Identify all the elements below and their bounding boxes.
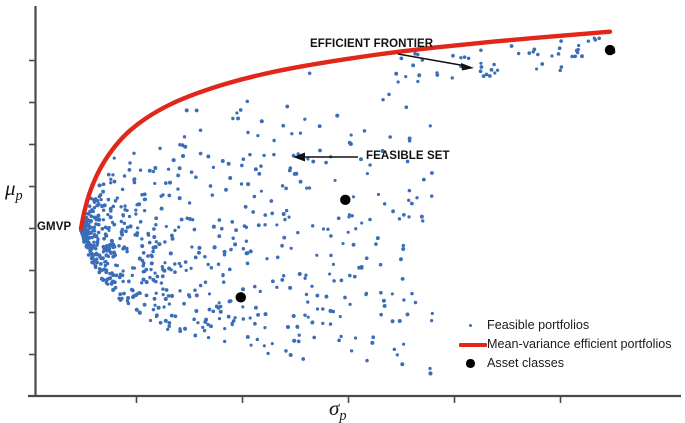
feasible-portfolio-point [140,244,144,248]
feasible-portfolio-point [357,266,361,270]
feasible-portfolio-point [219,310,223,314]
feasible-portfolio-point [131,289,135,293]
feasible-portfolio-point [116,264,119,267]
feasible-portfolio-point [121,247,125,251]
gmvp-label: GMVP [37,221,71,233]
feasible-portfolio-point [168,302,171,305]
feasible-portfolio-point [89,252,92,255]
feasible-portfolio-point [264,312,268,316]
feasible-portfolio-point [231,323,234,326]
feasible-portfolio-point [143,198,147,202]
feasible-portfolio-point [402,213,406,217]
feasible-portfolio-point [224,188,228,192]
feasible-portfolio-point [365,359,369,363]
feasible-portfolio-point [316,307,319,310]
feasible-portfolio-point [166,328,169,331]
feasible-portfolio-point [328,272,331,275]
feasible-portfolio-point [181,154,185,158]
feasible-portfolio-point [98,267,102,271]
feasible-portfolio-point [398,217,401,220]
feasible-portfolio-point [94,197,97,200]
feasible-portfolio-point [110,239,114,243]
feasible-portfolio-point [143,303,147,307]
feasible-portfolio-point [145,293,149,297]
feasible-portfolio-point [153,297,157,301]
feasible-portfolio-point [249,344,252,347]
feasible-portfolio-point [288,169,292,173]
feasible-portfolio-point [281,124,285,128]
feasible-portfolio-point [108,272,111,275]
feasible-portfolio-point [183,145,187,149]
feasible-portfolio-point [107,173,111,177]
feasible-portfolio-point [203,329,206,332]
feasible-portfolio-point [102,182,106,186]
feasible-portfolio-point [131,274,134,277]
feasible-portfolio-point [286,325,290,329]
feasible-portfolio-point [259,164,263,168]
feasible-portfolio-point [187,293,191,297]
feasible-portfolio-point [151,250,155,254]
feasible-portfolio-point [229,299,232,302]
feasible-portfolio-point [163,261,166,264]
feasible-portfolio-point [90,208,93,211]
feasible-portfolio-point [109,215,113,219]
feasible-portfolio-point [262,154,265,157]
feasible-portfolio-point [263,223,266,226]
feasible-portfolio-point [167,294,170,297]
feasible-portfolio-point [312,336,316,340]
y-axis-title-sub: p [16,188,23,204]
feasible-portfolio-point [283,218,286,221]
feasible-portfolio-point [496,69,499,72]
feasible-portfolio-point [535,67,538,70]
feasible-portfolio-point [343,296,347,300]
feasible-portfolio-point [92,246,95,249]
feasible-portfolio-point [321,307,325,311]
legend-red-line-icon [455,335,487,354]
feasible-portfolio-point [173,229,176,232]
feasible-portfolio-point [256,338,259,341]
feasible-portfolio-point [305,186,308,189]
feasible-portfolio-point [190,267,193,270]
feasible-portfolio-point [104,270,108,274]
feasible-portfolio-point [227,162,231,166]
feasible-portfolio-point [164,319,168,323]
feasible-portfolio-point [199,284,203,288]
asset-class-point [340,195,350,205]
feasible-portfolio-point [387,93,391,97]
feasible-portfolio-point [510,44,514,48]
feasible-portfolio-point [128,168,132,172]
feasible-portfolio-point [208,292,211,295]
feasible-portfolio-point [410,202,414,206]
feasible-portfolio-point [335,114,339,118]
feasible-portfolio-point [192,318,196,322]
feasible-portfolio-point [318,124,322,128]
feasible-portfolio-point [350,133,353,136]
feasible-portfolio-point [152,308,156,312]
feasible-portfolio-point [122,214,125,217]
feasible-portfolio-point [98,183,102,187]
feasible-portfolio-point [152,246,156,250]
feasible-portfolio-point [167,324,171,328]
feasible-portfolio-point [218,317,221,320]
feasible-portfolio-point [348,274,352,278]
feasible-portfolio-point [146,232,150,236]
feasible-portfolio-point [135,231,139,235]
feasible-portfolio-point [183,327,187,331]
feasible-portfolio-point [230,220,234,224]
feasible-portfolio-point [182,302,186,306]
feasible-portfolio-point [281,184,284,187]
feasible-portfolio-point [298,334,301,337]
feasible-portfolio-point [172,158,176,162]
feasible-portfolio-point [353,275,357,279]
feasible-portfolio-point [203,255,207,259]
feasible-portfolio-point [126,209,129,212]
feasible-portfolio-point [429,124,432,127]
feasible-portfolio-point [134,212,137,215]
feasible-portfolio-point [517,52,520,55]
feasible-portfolio-point [536,53,539,56]
feasible-portfolio-point [92,241,95,244]
feasible-portfolio-point [228,267,232,271]
feasible-portfolio-point [391,292,394,295]
feasible-portfolio-point [379,291,383,295]
feasible-portfolio-point [259,290,262,293]
feasible-portfolio-point [296,231,299,234]
feasible-portfolio-point [570,55,574,59]
feasible-portfolio-point [260,190,263,193]
feasible-portfolio-point [540,62,544,66]
feasible-portfolio-point [287,215,290,218]
legend-label-feasible-portfolios: Feasible portfolios [487,319,589,332]
feasible-portfolio-point [404,75,407,78]
feasible-portfolio-point [127,280,130,283]
feasible-portfolio-point [124,229,128,233]
feasible-portfolio-point [95,252,99,256]
feasible-portfolio-point [104,260,107,263]
legend-small-blue-dot-icon [455,316,487,335]
feasible-portfolio-point [560,65,564,69]
feasible-portfolio-point [154,223,157,226]
feasible-portfolio-point [190,245,193,248]
feasible-portfolio-point [135,203,138,206]
feasible-portfolio-point [123,174,127,178]
feasible-portfolio-point [246,262,250,266]
y-axis-title-glyph: μ [5,176,16,200]
feasible-portfolio-point [140,193,144,197]
feasible-portfolio-point [368,218,372,222]
feasible-portfolio-point [587,39,590,42]
feasible-portfolio-point [354,227,357,230]
feasible-portfolio-point [311,224,314,227]
feasible-portfolio-point [167,194,171,198]
feasible-portfolio-point [577,44,580,47]
feasible-portfolio-point [347,231,350,234]
feasible-portfolio-point [108,249,112,253]
feasible-portfolio-point [150,261,154,265]
legend-item-asset-classes: Asset classes [455,354,681,373]
feasible-portfolio-point [285,209,288,212]
feasible-portfolio-point [242,157,246,161]
feasible-portfolio-point [559,39,563,43]
feasible-portfolio-point [360,221,363,224]
feasible-portfolio-point [251,210,255,214]
feasible-portfolio-point [246,100,250,104]
legend-item-efficient-portfolios: Mean-variance efficient portfolios [455,335,681,354]
feasible-portfolio-point [195,293,199,297]
feasible-portfolio-point [149,268,152,271]
feasible-portfolio-point [398,319,402,323]
feasible-portfolio-point [257,223,261,227]
efficient-frontier-label: EFFICIENT FRONTIER [310,38,433,50]
feasible-portfolio-point [143,209,146,212]
feasible-portfolio-point [112,245,116,249]
feasible-portfolio-point [306,300,309,303]
feasible-portfolio-point [88,204,92,208]
feasible-portfolio-point [165,225,168,228]
feasible-portfolio-point [270,212,274,216]
feasible-portfolio-point [292,314,296,318]
feasible-portfolio-point [211,193,214,196]
feasible-portfolio-point [162,293,165,296]
feasible-portfolio-point [430,194,433,197]
feasible-portfolio-point [559,69,562,72]
feasible-portfolio-point [101,257,104,260]
feasible-portfolio-point [146,254,150,258]
feasible-portfolio-point [218,301,221,304]
feasible-portfolio-point [290,132,293,135]
feasible-portfolio-point [118,292,122,296]
feasible-portfolio-point [155,315,158,318]
feasible-portfolio-point [337,338,341,342]
feasible-portfolio-point [485,73,489,77]
efficient-frontier-chart: μp σp EFFICIENT FRONTIER FEASIBLE SET GM… [0,0,685,423]
feasible-portfolio-point [88,246,92,250]
feasible-portfolio-point [430,319,433,322]
feasible-portfolio-point [102,209,105,212]
feasible-portfolio-point [114,199,118,203]
feasible-portfolio-point [140,281,143,284]
feasible-portfolio-point [131,266,135,270]
feasible-portfolio-point [95,241,99,245]
feasible-portfolio-point [371,335,375,339]
feasible-portfolio-point [92,261,96,265]
feasible-portfolio-point [266,352,269,355]
feasible-portfolio-point [111,205,115,209]
feasible-set-label: FEASIBLE SET [366,150,450,162]
feasible-portfolio-point [404,105,408,109]
feasible-portfolio-point [597,36,601,40]
feasible-portfolio-point [256,134,259,137]
feasible-portfolio-point [532,48,536,52]
feasible-portfolio-point [400,362,404,366]
feasible-portfolio-point [410,292,414,296]
feasible-portfolio-point [275,286,278,289]
feasible-portfolio-point [121,274,125,278]
feasible-portfolio-point [110,280,114,284]
feasible-portfolio-point [207,336,210,339]
feasible-portfolio-point [324,161,328,165]
feasible-portfolio-point [276,255,280,259]
feasible-portfolio-point [269,199,273,203]
feasible-portfolio-point [280,278,284,282]
feasible-portfolio-point [490,68,494,72]
feasible-portfolio-point [394,72,398,76]
feasible-portfolio-point [155,292,158,295]
feasible-portfolio-point [263,213,267,217]
feasible-portfolio-point [109,181,112,184]
feasible-portfolio-point [352,243,356,247]
feasible-portfolio-point [167,168,170,171]
feasible-portfolio-point [253,322,257,326]
feasible-portfolio-point [284,349,288,353]
feasible-portfolio-point [299,180,303,184]
feasible-portfolio-point [245,251,249,255]
feasible-portfolio-point [402,244,405,247]
feasible-portfolio-point [125,250,128,253]
feasible-portfolio-point [129,224,133,228]
feasible-portfolio-point [393,348,396,351]
feasible-portfolio-point [527,51,531,55]
feasible-portfolio-point [406,312,410,316]
feasible-portfolio-point [99,262,103,266]
feasible-portfolio-point [160,281,163,284]
feasible-portfolio-point [282,236,286,240]
feasible-portfolio-point [108,276,112,280]
legend-item-feasible-portfolios: Feasible portfolios [455,316,681,335]
feasible-portfolio-point [154,280,158,284]
feasible-portfolio-point [230,248,233,251]
feasible-portfolio-point [305,293,308,296]
feasible-portfolio-point [479,48,483,52]
feasible-portfolio-point [297,339,301,343]
feasible-portfolio-point [298,272,302,276]
feasible-portfolio-point [107,255,110,258]
feasible-portfolio-point [308,71,312,75]
feasible-portfolio-point [142,251,146,255]
feasible-portfolio-point [377,193,380,196]
feasible-portfolio-point [282,274,285,277]
feasible-portfolio-point [85,233,89,237]
feasible-portfolio-point [201,326,204,329]
feasible-portfolio-point [368,163,371,166]
feasible-portfolio-point [376,236,380,240]
feasible-portfolio-point [242,247,245,250]
feasible-portfolio-point [257,172,261,176]
feasible-portfolio-point [265,257,268,260]
feasible-portfolio-point [143,270,146,273]
feasible-portfolio-point [321,322,324,325]
feasible-portfolio-point [493,71,496,74]
feasible-portfolio-point [550,54,553,57]
feasible-portfolio-point [451,54,455,58]
feasible-portfolio-point [370,341,374,345]
feasible-portfolio-point [100,204,104,208]
feasible-portfolio-point [136,226,139,229]
feasible-portfolio-point [170,314,174,318]
feasible-portfolio-point [326,228,329,231]
feasible-portfolio-point [310,285,313,288]
feasible-portfolio-point [280,244,284,248]
feasible-portfolio-point [422,178,426,182]
feasible-portfolio-point [329,322,332,325]
feasible-portfolio-point [311,160,315,164]
feasible-portfolio-point [340,335,343,338]
feasible-portfolio-point [421,219,424,222]
feasible-portfolio-point [416,80,419,83]
feasible-portfolio-point [114,286,118,290]
feasible-portfolio-point [332,263,335,266]
feasible-portfolio-point [329,309,333,313]
feasible-portfolio-point [228,176,232,180]
feasible-portfolio-point [239,108,243,112]
feasible-portfolio-point [263,326,266,329]
feasible-portfolio-point [381,98,384,101]
feasible-portfolio-point [162,269,166,273]
feasible-portfolio-point [557,52,561,56]
feasible-portfolio-point [111,173,114,176]
feasible-portfolio-point [159,321,163,325]
feasible-portfolio-point [155,240,158,243]
feasible-portfolio-point [178,196,182,200]
feasible-portfolio-point [307,316,310,319]
feasible-portfolio-point [232,237,235,240]
y-axis-title: μp [5,176,23,205]
feasible-portfolio-point [111,255,115,259]
feasible-portfolio-point [109,178,112,181]
feasible-portfolio-point [401,247,405,251]
feasible-portfolio-point [170,234,174,238]
feasible-portfolio-point [213,245,217,249]
feasible-portfolio-point [145,280,149,284]
feasible-portfolio-point [93,206,96,209]
feasible-portfolio-point [113,156,116,159]
feasible-portfolio-point [106,213,109,216]
feasible-portfolio-point [178,262,181,265]
feasible-portfolio-point [399,257,403,261]
feasible-portfolio-point [285,105,289,109]
feasible-portfolio-point [132,152,135,155]
feasible-portfolio-point [388,135,392,139]
feasible-portfolio-point [253,195,257,199]
feasible-portfolio-point [217,234,221,238]
feasible-portfolio-point [260,119,264,123]
feasible-portfolio-point [428,371,432,375]
feasible-portfolio-point [416,53,419,56]
feasible-portfolio-point [245,240,248,243]
feasible-portfolio-point [122,269,125,272]
feasible-portfolio-point [153,182,156,185]
legend-label-asset-classes: Asset classes [487,357,564,370]
feasible-portfolio-point [93,235,96,238]
feasible-portfolio-point [379,263,383,267]
feasible-portfolio-point [463,55,467,59]
feasible-portfolio-point [248,153,252,157]
feasible-portfolio-point [120,230,124,234]
feasible-portfolio-point [153,304,156,307]
feasible-portfolio-point [351,214,354,217]
feasible-portfolio-point [193,334,197,338]
feasible-portfolio-point [123,204,126,207]
feasible-portfolio-point [133,181,137,185]
feasible-portfolio-point [127,301,131,305]
feasible-portfolio-point [354,336,357,339]
feasible-portfolio-point [164,297,168,301]
feasible-portfolio-point [153,166,157,170]
feasible-portfolio-point [199,152,203,156]
